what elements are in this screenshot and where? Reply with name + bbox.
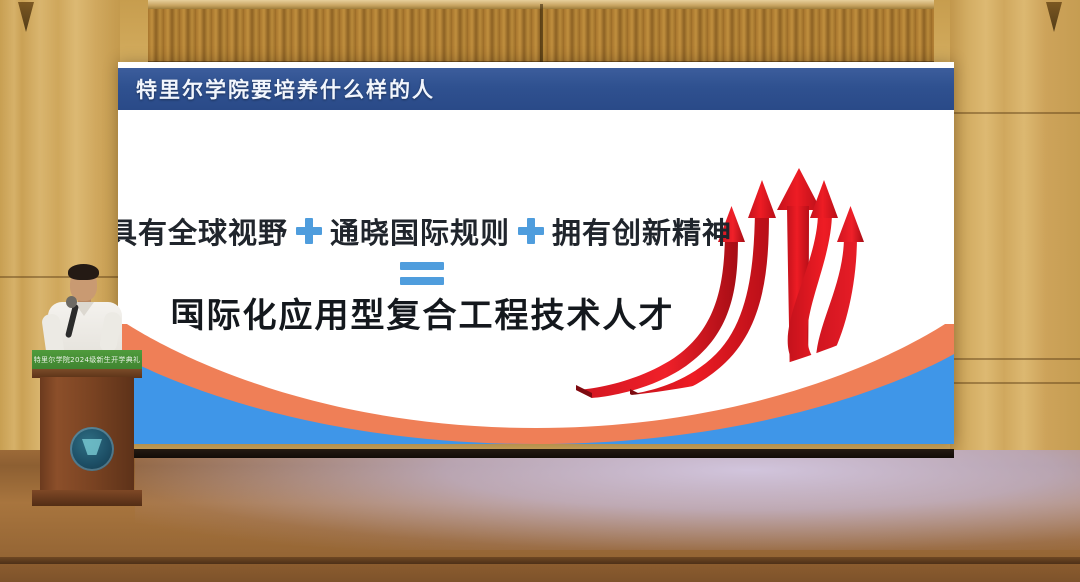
university-crest-icon xyxy=(70,427,114,471)
curtain-split xyxy=(540,4,543,62)
plus-icon xyxy=(296,218,322,244)
floor-light-reflection xyxy=(135,450,1080,550)
equals-icon xyxy=(400,262,444,286)
plus-icon xyxy=(518,218,544,244)
slide-title-banner: 特里尔学院要培养什么样的人 xyxy=(118,68,954,110)
wall-seam xyxy=(934,358,1080,360)
wall-seam xyxy=(934,382,1080,384)
slide-decoration-bands xyxy=(118,324,954,444)
podium-banner: 特里尔学院2024级新生开学典礼 xyxy=(32,350,142,370)
stage-front-edge xyxy=(0,557,1080,564)
presentation-slide[interactable]: 特里尔学院要培养什么样的人 xyxy=(118,62,954,444)
podium-and-speaker: 特里尔学院2024级新生开学典礼 xyxy=(26,246,146,516)
microphone-head-icon xyxy=(66,296,77,308)
wall-seam xyxy=(934,112,1080,114)
equation-term-3: 拥有创新精神 xyxy=(552,210,732,252)
podium-body xyxy=(40,377,134,493)
podium: 特里尔学院2024级新生开学典礼 xyxy=(32,350,142,514)
auditorium-scene: 特里尔学院要培养什么样的人 xyxy=(0,0,1080,582)
podium-base xyxy=(32,490,142,506)
slide-title: 特里尔学院要培养什么样的人 xyxy=(136,74,435,104)
speaker-hair xyxy=(68,264,99,280)
wall-panels-right xyxy=(950,0,1080,470)
equation-row: 具有全球视野 通晓国际规则 拥有创新精神 xyxy=(140,210,700,252)
stage-floor xyxy=(0,450,1080,582)
equation-term-2: 通晓国际规则 xyxy=(330,210,510,252)
stage-apron xyxy=(0,564,1080,582)
podium-banner-text: 特里尔学院2024级新生开学典礼 xyxy=(34,355,141,365)
screen-base-shadow xyxy=(118,449,954,458)
